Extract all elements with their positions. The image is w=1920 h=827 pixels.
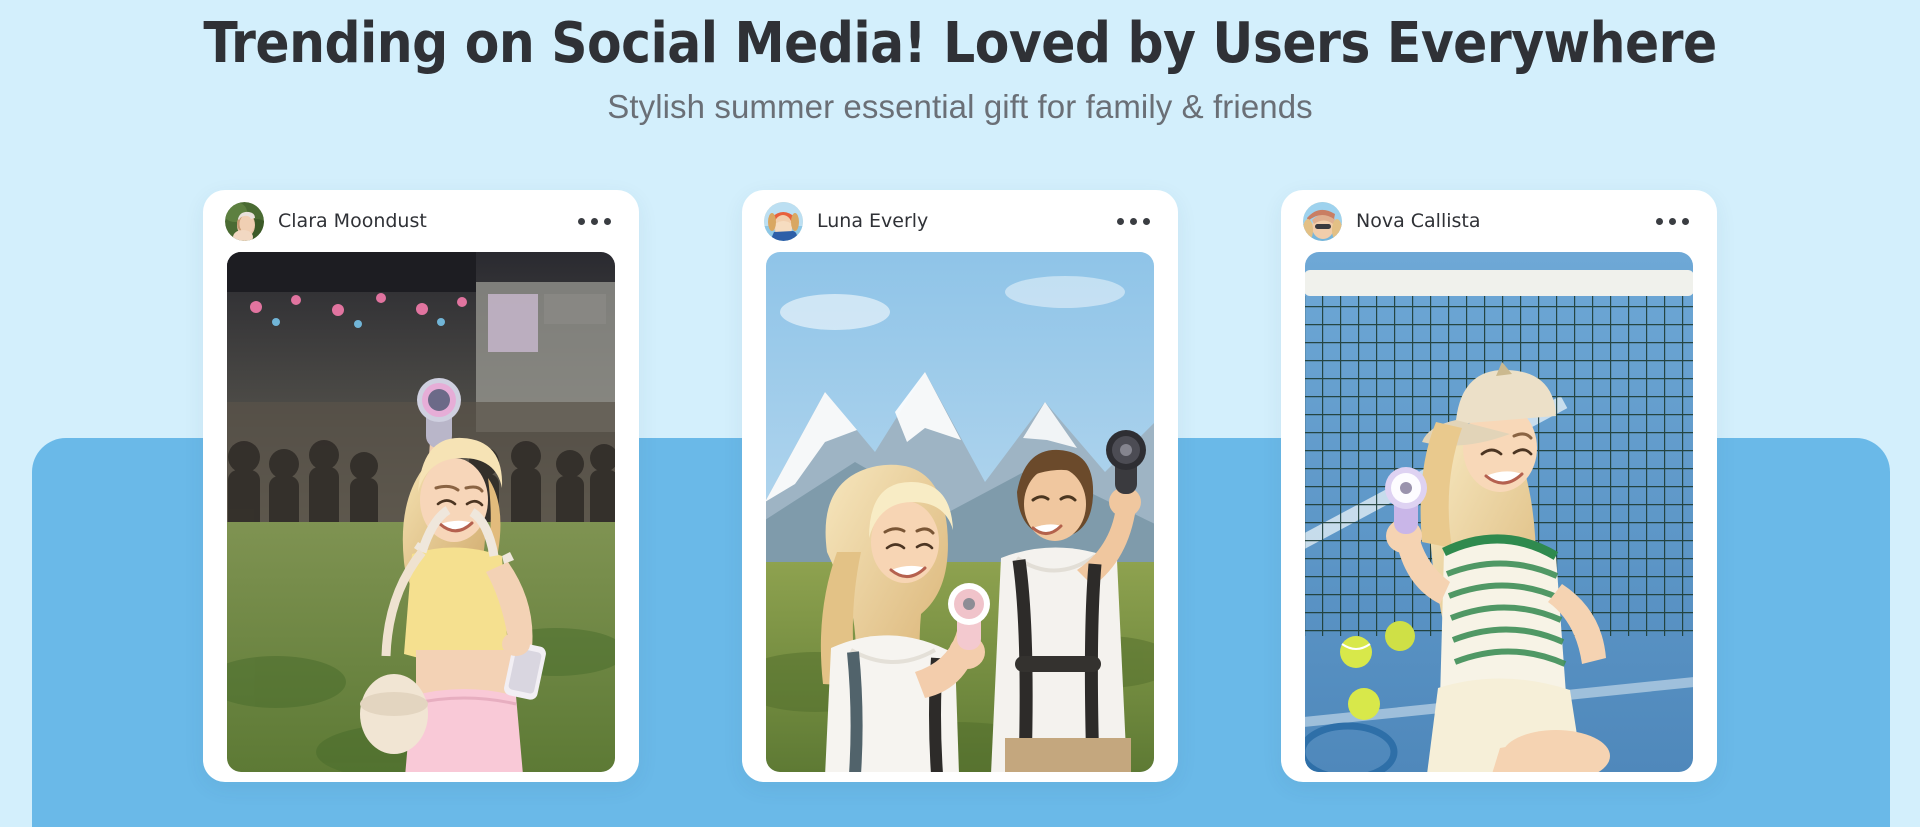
dot [1143, 218, 1150, 225]
photo-tennis-court-woman-with-handheld-fan [1305, 252, 1693, 772]
photo-festival-woman-with-handheld-fan [227, 252, 615, 772]
avatar[interactable] [764, 202, 803, 241]
social-post-card-list: Clara Moondust [0, 190, 1920, 782]
dot [1130, 218, 1137, 225]
post-header: Luna Everly [742, 190, 1178, 252]
social-post-card[interactable]: Nova Callista [1281, 190, 1717, 782]
more-options-icon[interactable] [1115, 212, 1152, 231]
dot [604, 218, 611, 225]
more-options-icon[interactable] [576, 212, 613, 231]
avatar[interactable] [1303, 202, 1342, 241]
page-subtitle: Stylish summer essential gift for family… [0, 88, 1920, 126]
post-image [227, 252, 615, 772]
post-author-name: Clara Moondust [278, 210, 427, 232]
dot [1682, 218, 1689, 225]
post-image [766, 252, 1154, 772]
post-header: Nova Callista [1281, 190, 1717, 252]
post-author-name: Nova Callista [1356, 210, 1481, 232]
dot [1117, 218, 1124, 225]
dot [591, 218, 598, 225]
page-title: Trending on Social Media! Loved by Users… [0, 14, 1920, 74]
dot [1669, 218, 1676, 225]
avatar-image-clara [225, 202, 264, 241]
post-header: Clara Moondust [203, 190, 639, 252]
page-header: Trending on Social Media! Loved by Users… [0, 0, 1920, 126]
avatar-image-nova [1303, 202, 1342, 241]
social-post-card[interactable]: Luna Everly [742, 190, 1178, 782]
post-author-name: Luna Everly [817, 210, 928, 232]
dot [1656, 218, 1663, 225]
avatar[interactable] [225, 202, 264, 241]
social-post-card[interactable]: Clara Moondust [203, 190, 639, 782]
more-options-icon[interactable] [1654, 212, 1691, 231]
post-image [1305, 252, 1693, 772]
avatar-image-luna [764, 202, 803, 241]
dot [578, 218, 585, 225]
photo-hiking-couple-with-handheld-fans [766, 252, 1154, 772]
